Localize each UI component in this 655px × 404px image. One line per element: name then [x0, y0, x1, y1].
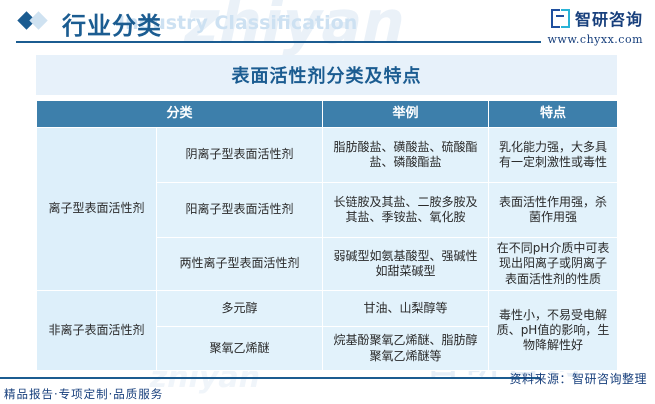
footer-source: 资料来源：智研咨询整理 — [509, 370, 647, 387]
cell-subtype-polyol: 多元醇 — [157, 291, 323, 327]
column-header-category: 分类 — [37, 101, 323, 128]
cell-example-polyoxyethylene: 烷基酚聚氧乙烯醚、脂肪醇聚氧乙烯醚等 — [323, 327, 489, 371]
header-title-chinese: 行业分类 — [62, 6, 162, 41]
table-row: 离子型表面活性剂 阴离子型表面活性剂 脂肪酸盐、磺酸盐、硫酸酯盐、磷酸酯盐 乳化… — [37, 128, 618, 183]
brand-name: 智研咨询 — [575, 6, 643, 30]
cell-subtype-polyoxyethylene: 聚氧乙烯醚 — [157, 327, 323, 371]
cell-example-anionic: 脂肪酸盐、磺酸盐、硫酸酯盐、磷酸酯盐 — [323, 128, 489, 183]
cell-feature-cationic: 表面活性作用强，杀菌作用强 — [489, 183, 618, 238]
cell-feature-nonionic: 毒性小，不易受电解质、pH值的影响，生物降解性好 — [489, 291, 618, 371]
cell-feature-amphoteric: 在不同pH介质中可表现出阳离子或阴离子表面活性剂的性质 — [489, 238, 618, 291]
diamond-bullet-icon — [20, 11, 62, 31]
cell-example-amphoteric: 弱碱型如氨基酸型、强碱性如甜菜碱型 — [323, 238, 489, 291]
chart-title-text: 表面活性剂分类及特点 — [232, 62, 422, 88]
table-header-row: 分类 举例 特点 — [37, 101, 618, 128]
chyxx-logo-icon — [551, 9, 570, 28]
cell-category-ionic: 离子型表面活性剂 — [37, 128, 157, 291]
cell-example-cationic: 长链胺及其盐、二胺多胺及其盐、季铵盐、氧化胺 — [323, 183, 489, 238]
chart-title-band: 表面活性剂分类及特点 — [36, 55, 617, 95]
column-header-example: 举例 — [323, 101, 489, 128]
table-row: 非离子表面活性剂 多元醇 甘油、山梨醇等 毒性小，不易受电解质、pH值的影响，生… — [37, 291, 618, 327]
footer-divider — [0, 377, 540, 379]
cell-example-polyol: 甘油、山梨醇等 — [323, 291, 489, 327]
header-divider — [16, 41, 541, 43]
classification-table: 分类 举例 特点 离子型表面活性剂 阴离子型表面活性剂 脂肪酸盐、磺酸盐、硫酸酯… — [36, 100, 617, 371]
brand-block: 智研咨询 www.chyxx.com — [547, 6, 643, 46]
cell-subtype-cationic: 阳离子型表面活性剂 — [157, 183, 323, 238]
page-header: Industry Classification 行业分类 智研咨询 www.ch… — [0, 0, 655, 46]
cell-subtype-amphoteric: 两性离子型表面活性剂 — [157, 238, 323, 291]
cell-category-nonionic: 非离子表面活性剂 — [37, 291, 157, 371]
brand-url: www.chyxx.com — [547, 33, 643, 46]
column-header-feature: 特点 — [489, 101, 618, 128]
footer-tagline: 精品报告·专项定制·品质服务 — [4, 386, 163, 402]
cell-subtype-anionic: 阴离子型表面活性剂 — [157, 128, 323, 183]
cell-feature-anionic: 乳化能力强，大多具有一定刺激性或毒性 — [489, 128, 618, 183]
